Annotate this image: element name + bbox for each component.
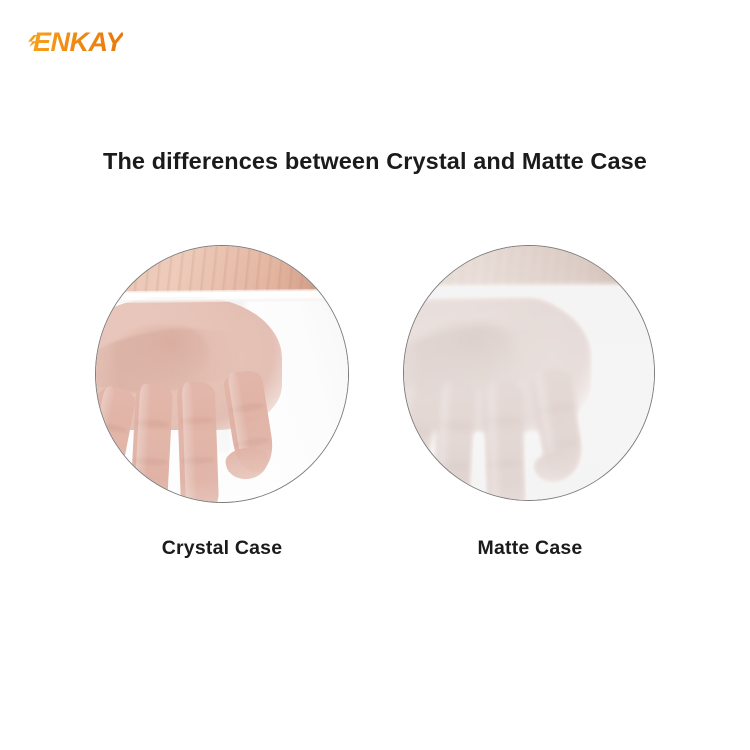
comparison-item-crystal: Crystal Case (95, 245, 349, 503)
wrist-skin-lines (403, 245, 655, 290)
comparison-row: Crystal Case (0, 245, 750, 575)
finger-ring (129, 383, 172, 503)
finger-middle (177, 381, 219, 503)
matte-case-photo (403, 245, 655, 501)
crystal-case-caption: Crystal Case (95, 537, 349, 560)
matte-case-scene (403, 245, 655, 501)
matte-case-caption: Matte Case (403, 537, 657, 560)
finger-ring (431, 383, 476, 501)
wrist-skin-lines (95, 245, 349, 295)
crystal-case-photo (95, 245, 349, 503)
product-comparison-banner: ENKAY The differences between Crystal an… (0, 0, 750, 750)
page-title: The differences between Crystal and Matt… (0, 147, 750, 175)
crystal-case-scene (96, 246, 348, 502)
finger-middle (482, 380, 527, 501)
comparison-item-matte: Matte Case (403, 245, 655, 501)
enkay-brand-logo: ENKAY (33, 29, 123, 56)
